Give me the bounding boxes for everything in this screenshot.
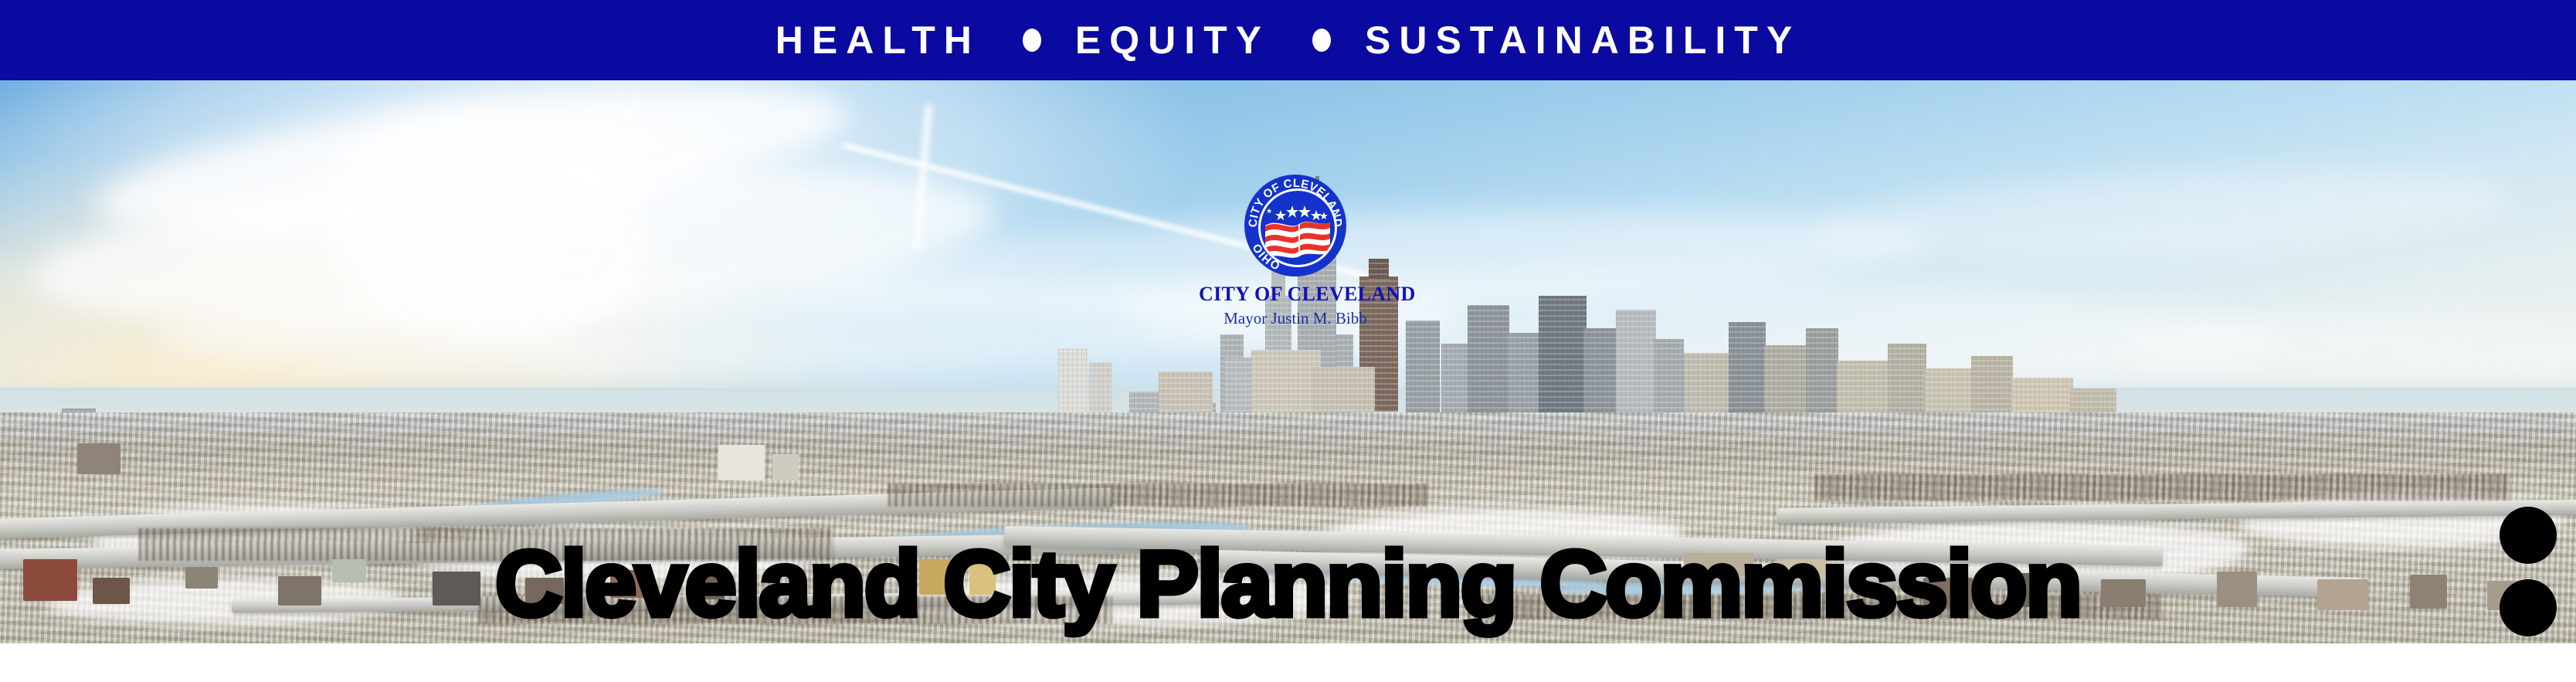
tagline-word-equity: EQUITY	[1075, 21, 1270, 59]
bullet-separator-icon	[1312, 29, 1331, 52]
brand-mayor-name: Mayor Justin M. Bibb	[1199, 309, 1392, 328]
youtube-icon[interactable]	[2500, 507, 2557, 564]
tagline-word-sustainability: SUSTAINABILITY	[1365, 21, 1800, 59]
tagline-word-health: HEALTH	[776, 21, 980, 59]
instagram-glyph	[2500, 579, 2557, 636]
page-title: Cleveland City Planning Commission	[0, 538, 2576, 630]
tagline-banner-inner: HEALTH EQUITY SUSTAINABILITY	[776, 21, 1800, 59]
instagram-icon[interactable]	[2500, 579, 2557, 636]
hero-photo: CITY OF CLEVELAND OHIO	[0, 80, 2576, 643]
footer-whitespace	[0, 643, 2576, 682]
tagline-banner: HEALTH EQUITY SUSTAINABILITY	[0, 0, 2576, 80]
brand-city-name: CITY OF CLEVELAND	[1199, 283, 1392, 306]
seal-flag-icon	[1264, 216, 1332, 261]
page-root: HEALTH EQUITY SUSTAINABILITY	[0, 0, 2576, 682]
social-links	[2500, 507, 2557, 643]
youtube-glyph	[2500, 507, 2557, 564]
city-brand-lockup: CITY OF CLEVELAND OHIO	[1199, 175, 1392, 328]
seal-inner-disc	[1258, 188, 1337, 267]
bullet-separator-icon	[1023, 29, 1041, 52]
city-of-cleveland-seal-icon: CITY OF CLEVELAND OHIO	[1244, 175, 1346, 277]
